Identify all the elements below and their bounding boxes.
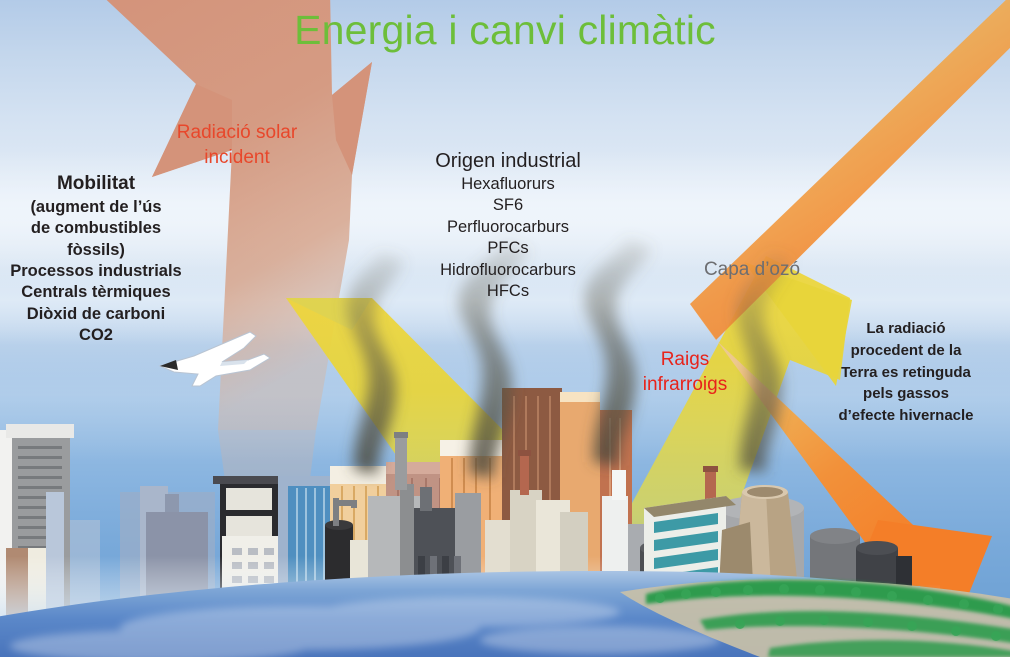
ozone-layer-label: Capa d’ozó	[668, 258, 836, 283]
solar-radiation-label-line-2: incident	[152, 146, 322, 171]
emissions-sources-line-2: de combustibles	[0, 218, 194, 239]
emissions-sources-line-1: (augment de l’ús	[0, 197, 194, 218]
page-title: Energia i canvi climàtic	[0, 4, 1010, 57]
emissions-sources-heading: Mobilitat	[0, 172, 194, 197]
emissions-sources-line-3: fòssils)	[0, 240, 194, 261]
greenhouse-effect-line-1: La radiació	[808, 318, 1004, 340]
industrial-origin-line-3: Perfluorocarburs	[398, 217, 618, 238]
emissions-sources-block: Mobilitat (augment de l’ús de combustibl…	[0, 172, 194, 347]
solar-radiation-label-line-1: Radiació solar	[152, 121, 322, 146]
greenhouse-effect-line-3: Terra es retinguda	[808, 362, 1004, 384]
industrial-origin-heading: Origen industrial	[398, 148, 618, 174]
greenhouse-effect-block: La radiació procedent de la Terra es ret…	[808, 318, 1004, 427]
solar-radiation-label: Radiació solar incident	[152, 121, 322, 170]
industrial-origin-block: Origen industrial Hexafluorurs SF6 Perfl…	[398, 148, 618, 303]
industrial-origin-line-5: Hidrofluorocarburs	[398, 260, 618, 281]
greenhouse-effect-line-4: pels gassos	[808, 383, 1004, 405]
emissions-sources-line-6: Diòxid de carboni	[0, 304, 194, 325]
greenhouse-effect-line-2: procedent de la	[808, 340, 1004, 362]
infrared-rays-label: Raigs infrarroigs	[612, 348, 758, 397]
infrared-rays-label-line-2: infrarroigs	[612, 373, 758, 398]
infographic-canvas: Energia i canvi climàtic Radiació solar …	[0, 0, 1010, 657]
industrial-origin-line-2: SF6	[398, 195, 618, 216]
greenhouse-effect-line-5: d’efecte hivernacle	[808, 405, 1004, 427]
emissions-sources-line-4: Processos industrials	[0, 261, 194, 282]
industrial-origin-line-1: Hexafluorurs	[398, 174, 618, 195]
emissions-sources-line-5: Centrals tèrmiques	[0, 282, 194, 303]
infrared-rays-label-line-1: Raigs	[612, 348, 758, 373]
industrial-origin-line-4: PFCs	[398, 238, 618, 259]
industrial-origin-line-6: HFCs	[398, 281, 618, 302]
emissions-sources-line-7: CO2	[0, 325, 194, 346]
